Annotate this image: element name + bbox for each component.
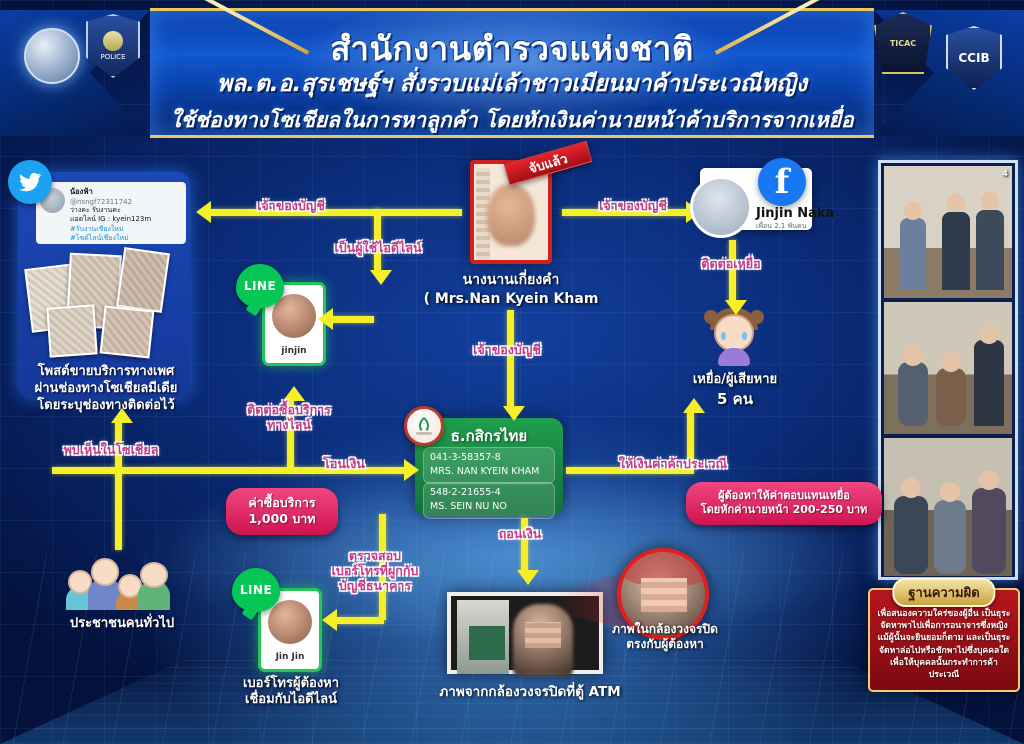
legal-charges-body: เพื่อสนองความใคร่ของผู้อื่น เป็นธุระจัดห… — [875, 608, 1013, 681]
twitter-card-caption: โพสต์ขายบริการทางเพศ ผ่านช่องทางโซเชียลม… — [10, 364, 202, 415]
ccib-badge-label: CCIB — [958, 51, 989, 65]
twitter-bird-icon — [8, 160, 52, 204]
line-card-2-caption: เบอร์โทรผู้ต้องหา เชื่อมกับไอดีไลน์ — [216, 676, 366, 709]
bank-account-2: 548-2-21655-4 MS. SEIN NU NO — [423, 482, 555, 519]
commission-bubble: ผู้ต้องหาให้ค่าตอบแทนเหยื่อ โดยหักค่านาย… — [686, 482, 882, 525]
arrest-photo-panel: 4 — [878, 160, 1018, 580]
header-subtitle-2: ใช้ช่องทางโซเชียลในการหาลูกค้า โดยหักเงิ… — [0, 104, 1024, 137]
atm-screen — [469, 626, 505, 660]
line-display-name: jinjin — [265, 346, 323, 356]
photo-number-label: 4 — [1002, 169, 1008, 178]
twitter-text: ว่างคะ รับงานคะ แอดไลน์ IG : kyein123m — [70, 206, 181, 225]
bank-account-1-holder: MRS. NAN KYEIN KHAM — [430, 465, 548, 479]
suspect-face-blurred — [487, 184, 535, 246]
crying-girl-icon — [706, 308, 762, 366]
label-account-owner-left: เจ้าของบัญชี — [236, 198, 346, 213]
label-contact-victim: ติดต่อเหยื่อ — [676, 256, 786, 271]
label-seen-on-social: พบเห็นในโซเชียล — [36, 442, 186, 457]
arrow-head-victim-money — [683, 398, 705, 413]
bank-account-1: 041-3-58357-8 MRS. NAN KYEIN KHAM — [423, 447, 555, 484]
arrow-facebook-to-victim — [729, 240, 736, 304]
line-icon: LINE — [236, 264, 284, 308]
bank-account-2-holder: MS. SEIN NU NO — [430, 500, 548, 514]
arrest-photo-3 — [884, 438, 1012, 576]
infographic-canvas: สำนักงานตำรวจแห่งชาติ พล.ต.อ.สุรเชษฐ์ฯ ส… — [0, 0, 1024, 744]
arrow-suspect-to-bank — [507, 310, 514, 410]
bank-account-2-number: 548-2-21655-4 — [430, 486, 548, 500]
twitter-tweet-body: น้องฟ้า @nsngf72311742 ว่างคะ รับงานคะ แ… — [36, 182, 186, 244]
ticac-badge-label: TICAC — [890, 39, 916, 48]
line-display-name-2: Jin Jin — [261, 652, 319, 662]
facebook-friend-count: เพื่อน 2.1 พันคน — [756, 221, 806, 232]
suspect-name-th: นางนานเกี่ยงคำ — [420, 272, 602, 290]
arrow-seen-on-social — [115, 420, 122, 550]
arrow-head-to-bank — [503, 406, 525, 421]
label-account-owner-bank: เจ้าของบัญชี — [452, 342, 562, 357]
bank-account-1-number: 041-3-58357-8 — [430, 451, 548, 465]
twitter-account-name: น้องฟ้า — [70, 186, 181, 198]
public-label: ประชาชนคนทั่วไป — [42, 616, 202, 632]
arrow-check-phone-h — [334, 617, 384, 624]
atm-face-pixelated — [525, 622, 561, 648]
people-group-icon — [60, 548, 178, 610]
label-contact-buy-service: ติดต่อซื้อบริการ ทางไลน์ — [224, 402, 354, 432]
victim-tear-right — [742, 332, 747, 340]
header-banner: สำนักงานตำรวจแห่งชาติ พล.ต.อ.สุรเชษฐ์ฯ ส… — [0, 0, 1024, 146]
label-line-id-user: เป็นผู้ใช้ไอดีไลน์ — [318, 240, 438, 255]
victim-face — [714, 314, 754, 352]
label-withdraw-money: ถอนเงิน — [472, 526, 568, 541]
line-icon-2: LINE — [232, 568, 280, 612]
cctv-face-pixelated — [641, 578, 687, 612]
arrow-head-to-atm — [517, 570, 539, 585]
line-label-2: LINE — [240, 583, 272, 597]
arrow-head-to-twitter — [196, 201, 211, 223]
arrow-head-transfer-to-bank — [404, 459, 419, 481]
police-badge-label: POLICE — [100, 53, 125, 61]
arrest-photo-2 — [884, 302, 1012, 434]
arrow-head-buy-service — [283, 386, 305, 401]
twitter-handle: @nsngf72311742 — [70, 198, 181, 206]
victim-hair-bun-right — [750, 310, 764, 324]
arrow-head-branch-down — [370, 270, 392, 285]
kasikorn-bank-logo-icon — [404, 406, 444, 446]
label-transfer-money: โอนเงิน — [298, 456, 390, 471]
facebook-icon: f — [758, 158, 806, 206]
label-account-owner-right: เจ้าของบัญชี — [578, 198, 688, 213]
victim-label: เหยื่อ/ผู้เสียหาย — [664, 372, 806, 388]
legal-charges-title: ฐานความผิด — [892, 578, 995, 607]
arrest-photo-1: 4 — [884, 166, 1012, 298]
arrow-head-to-victim — [725, 300, 747, 315]
arrow-head-into-line-card — [318, 308, 333, 330]
legal-charges-box: ฐานความผิด เพื่อสนองความใคร่ของผู้อื่น เ… — [868, 588, 1020, 692]
arrow-head-seen-on-social — [111, 408, 133, 423]
atm-machine — [457, 600, 509, 674]
arrow-into-line-card — [330, 316, 374, 323]
cctv-match-caption: ภาพในกล้องวงจรปิด ตรงกับผู้ต้องหา — [590, 622, 740, 652]
twitter-photo-collage — [26, 248, 186, 358]
line-label: LINE — [244, 279, 276, 293]
arrow-head-check-phone — [322, 609, 337, 631]
service-fee-bubble: ค่าซื้อบริการ 1,000 บาท — [226, 488, 338, 535]
victim-body — [718, 348, 750, 366]
facebook-avatar-icon — [690, 176, 752, 238]
header-subtitle-1: พล.ต.อ.สุรเชษฐ์ฯ สั่งรวบแม่เล้าชาวเมียนม… — [0, 66, 1024, 102]
royal-thai-police-emblem-icon — [24, 28, 80, 84]
twitter-hashtags: #รับงานเชียงใหม่ #ไซด์ไลน์เชียงใหม่ — [70, 225, 181, 243]
label-give-prostitution-money: ให้เงินค่าค้าประเวณี — [600, 456, 746, 471]
victim-hair-bun-left — [704, 310, 718, 324]
label-check-phone-bank: ตรวจสอบ เบอร์โทรที่ผูกกับ บัญชีธนาคาร — [310, 548, 440, 593]
line-avatar-icon-2 — [268, 600, 312, 644]
victim-tear-left — [721, 332, 726, 340]
atm-photo-caption: ภาพจากกล้องวงจรปิดที่ตู้ ATM — [380, 680, 680, 702]
facebook-display-name: Jinjin Naka — [756, 206, 834, 221]
